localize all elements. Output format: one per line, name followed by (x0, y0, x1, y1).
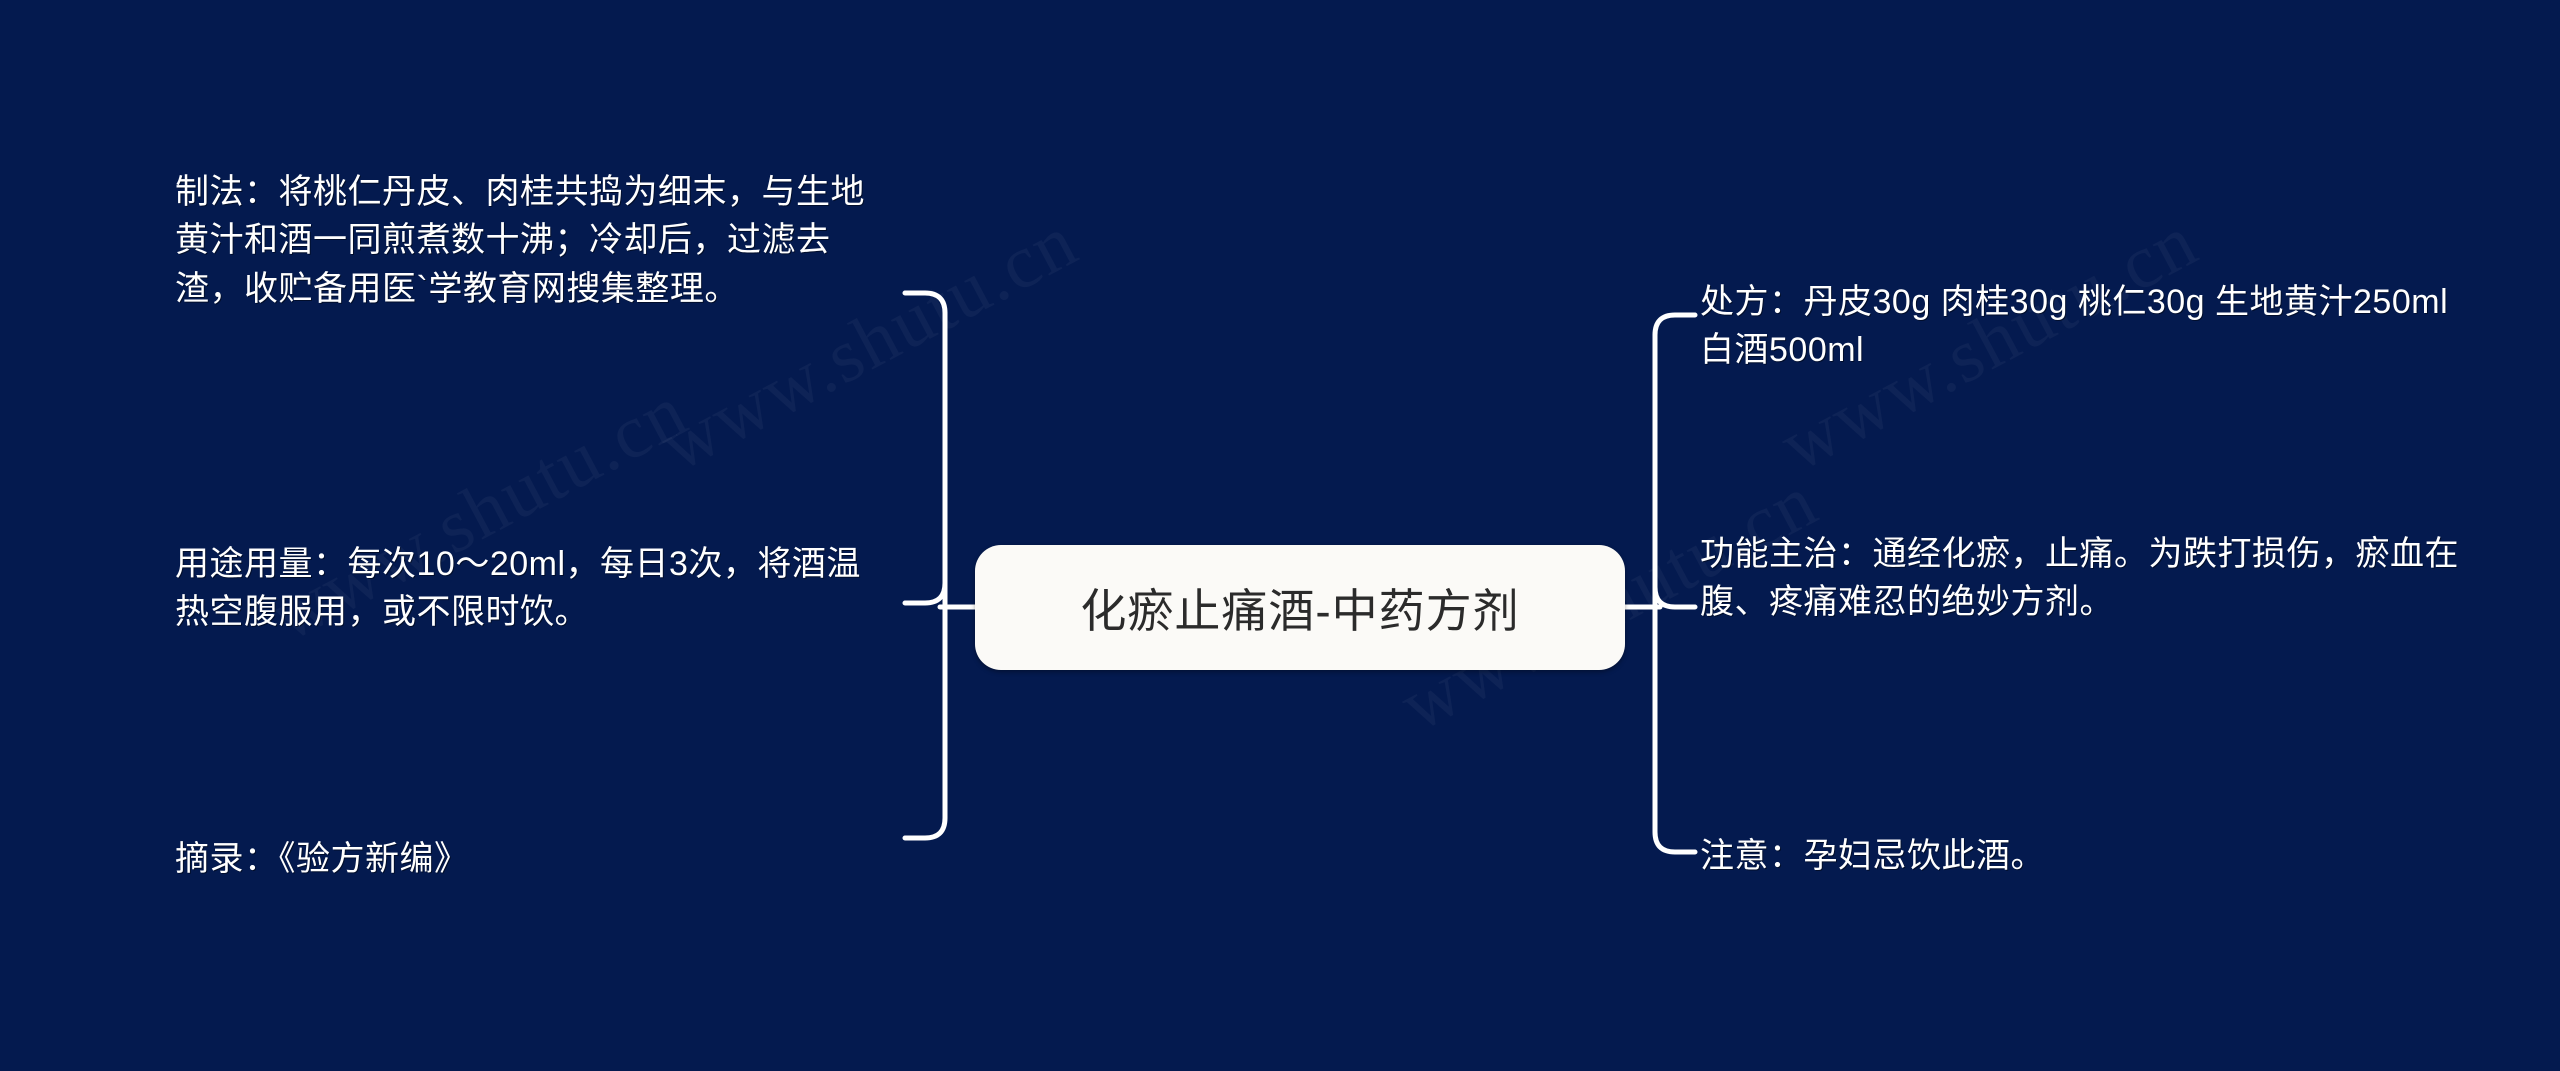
branch-zhuyi[interactable]: 注意：孕妇忌饮此酒。 (1700, 832, 2460, 880)
center-node-label: 化瘀止痛酒-中药方剂 (1080, 575, 1519, 641)
connector-right-upper (1655, 315, 1695, 607)
branch-zhailu[interactable]: 摘录：《验方新编》 (175, 835, 895, 883)
branch-gongneng-zhuzhi[interactable]: 功能主治：通经化瘀，止痛。为跌打损伤，瘀血在腹、疼痛难忍的绝妙方剂。 (1700, 530, 2460, 627)
branch-chufang[interactable]: 处方：丹皮30g 肉桂30g 桃仁30g 生地黄汁250ml 白酒500ml (1700, 278, 2460, 375)
mindmap-canvas: www.shutu.cn www.shutu.cn www.shutu.cn w… (0, 0, 2560, 1071)
branch-yongtu-yongliang[interactable]: 用途用量：每次10～20ml，每日3次，将酒温热空腹服用，或不限时饮。 (175, 540, 895, 637)
connector-left-lower (905, 313, 945, 838)
connector-left-upper (905, 293, 945, 603)
center-node[interactable]: 化瘀止痛酒-中药方剂 (975, 545, 1625, 670)
branch-zhifa[interactable]: 制法：将桃仁丹皮、肉桂共捣为细末，与生地黄汁和酒一同煎煮数十沸；冷却后，过滤去渣… (175, 168, 895, 313)
connector-right-lower (1655, 335, 1695, 852)
